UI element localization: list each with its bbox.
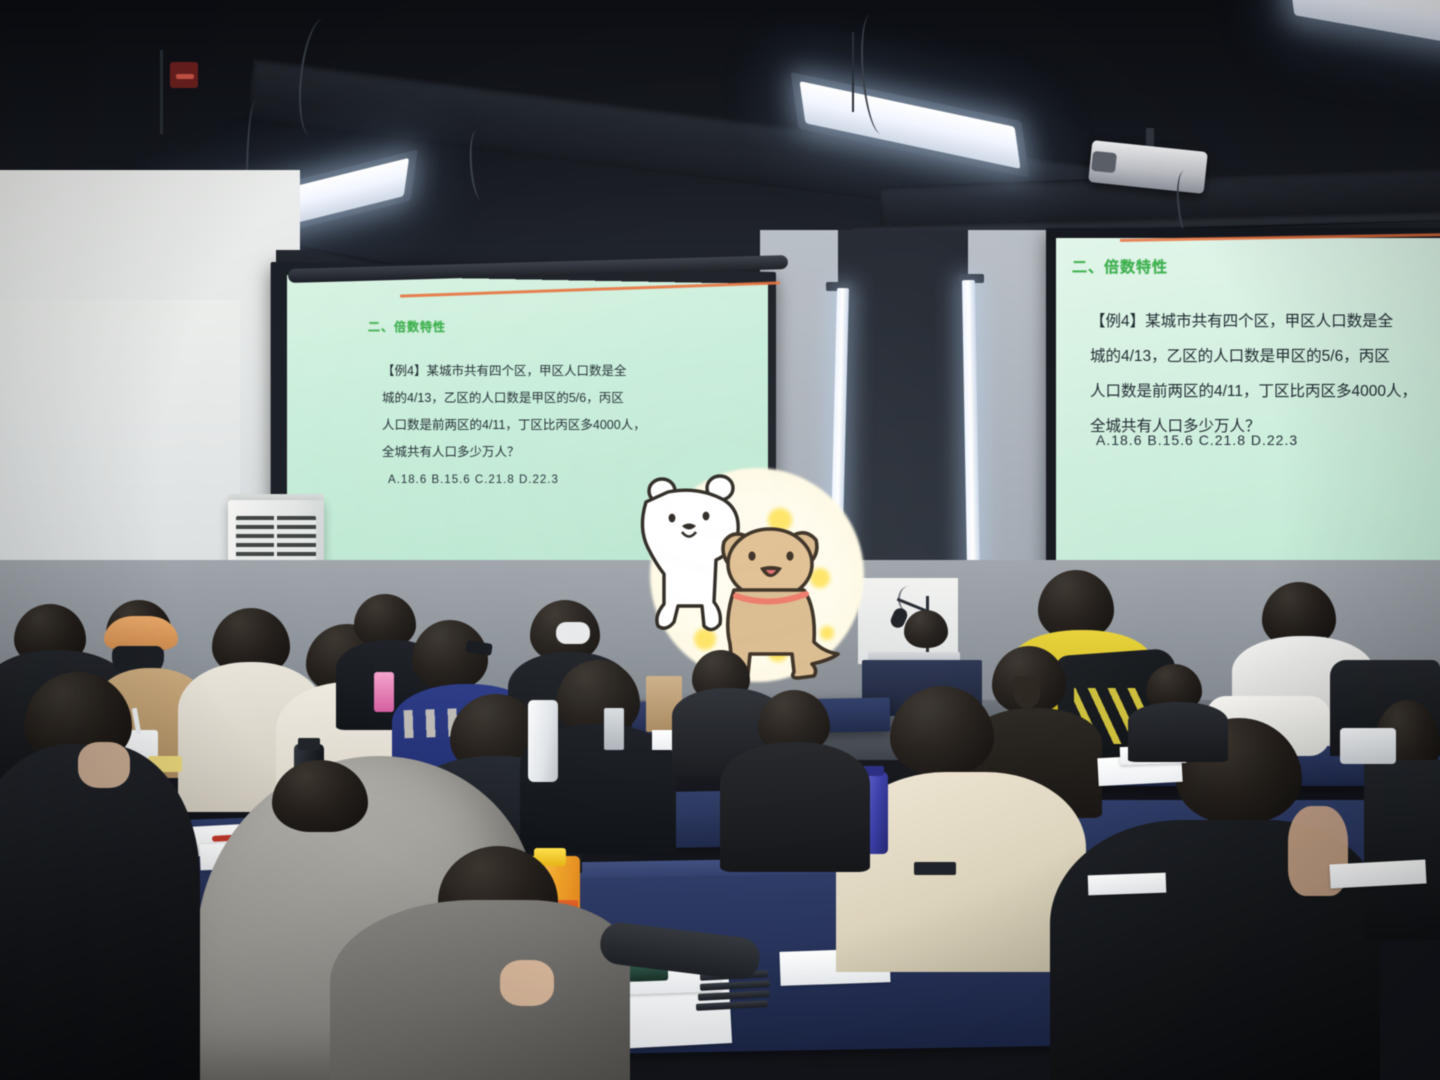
person-body <box>720 742 870 872</box>
hand <box>78 742 130 788</box>
white-cup <box>604 708 624 750</box>
screen-right-line-1: 【例4】某城市共有四个区，甲区人口数是全 <box>1090 304 1417 339</box>
screen-left-body: 【例4】某城市共有四个区，甲区人口数是全 城的4/13，乙区的人口数是甲区的5/… <box>382 358 646 466</box>
screen-left-line-1: 【例4】某城市共有四个区，甲区人口数是全 <box>382 358 646 385</box>
screen-right-options: A.18.6 B.15.6 C.21.8 D.22.3 <box>1096 432 1298 448</box>
classroom-photo: 二、倍数特性 【例4】某城市共有四个区，甲区人口数是全 城的4/13，乙区的人口… <box>0 0 1440 1080</box>
person-body <box>1364 760 1440 940</box>
fire-alarm-light <box>176 74 194 79</box>
thermos-cap <box>298 738 320 750</box>
white-thermos <box>528 700 558 782</box>
sticker-artwork <box>624 456 864 694</box>
person-body <box>330 900 630 1080</box>
ceiling-hanger-2 <box>852 32 854 112</box>
person-body <box>0 744 200 1080</box>
screen-right-line-3: 人口数是前两区的4/11，丁区比丙区多4000人， <box>1090 374 1417 409</box>
paper-sheet <box>1088 873 1167 896</box>
tissue-pack <box>1340 728 1396 764</box>
screen-left-line-2: 城的4/13，乙区的人口数是甲区的5/6，丙区 <box>382 385 646 412</box>
screen-right-line-2: 城的4/13，乙区的人口数是甲区的5/6，丙区 <box>1090 339 1417 374</box>
paper-sheet <box>1329 860 1426 889</box>
screen-left-line-3: 人口数是前两区的4/11，丁区比丙区多4000人， <box>382 412 646 439</box>
screen-left-heading-number: 二、 <box>368 320 394 334</box>
ceiling-hanger-1 <box>160 50 163 134</box>
hair-bun-icon <box>1014 676 1040 708</box>
person-body <box>1128 702 1228 762</box>
face-mask-icon <box>556 622 590 644</box>
cartoon-dog-sticker <box>624 456 864 694</box>
screen-right-heading-number: 二、 <box>1072 259 1104 276</box>
screen-left-heading-text: 倍数特性 <box>394 320 446 334</box>
person-head <box>904 610 948 648</box>
sweatshirt-label-patch <box>914 862 956 875</box>
pink-phone <box>374 672 394 712</box>
projector-right-lens <box>1091 151 1117 173</box>
screen-right-body: 【例4】某城市共有四个区，甲区人口数是全 城的4/13，乙区的人口数是甲区的5/… <box>1090 304 1417 444</box>
hand <box>500 960 554 1006</box>
screen-left-options: A.18.6 B.15.6 C.21.8 D.22.3 <box>388 474 559 486</box>
screen-left-line-4: 全城共有人口多少万人？ <box>382 439 646 466</box>
screen-left-heading: 二、倍数特性 <box>368 318 446 335</box>
screen-right-heading: 二、倍数特性 <box>1072 256 1168 277</box>
orange-cap-icon <box>104 616 178 650</box>
screen-right-heading-text: 倍数特性 <box>1104 259 1168 276</box>
